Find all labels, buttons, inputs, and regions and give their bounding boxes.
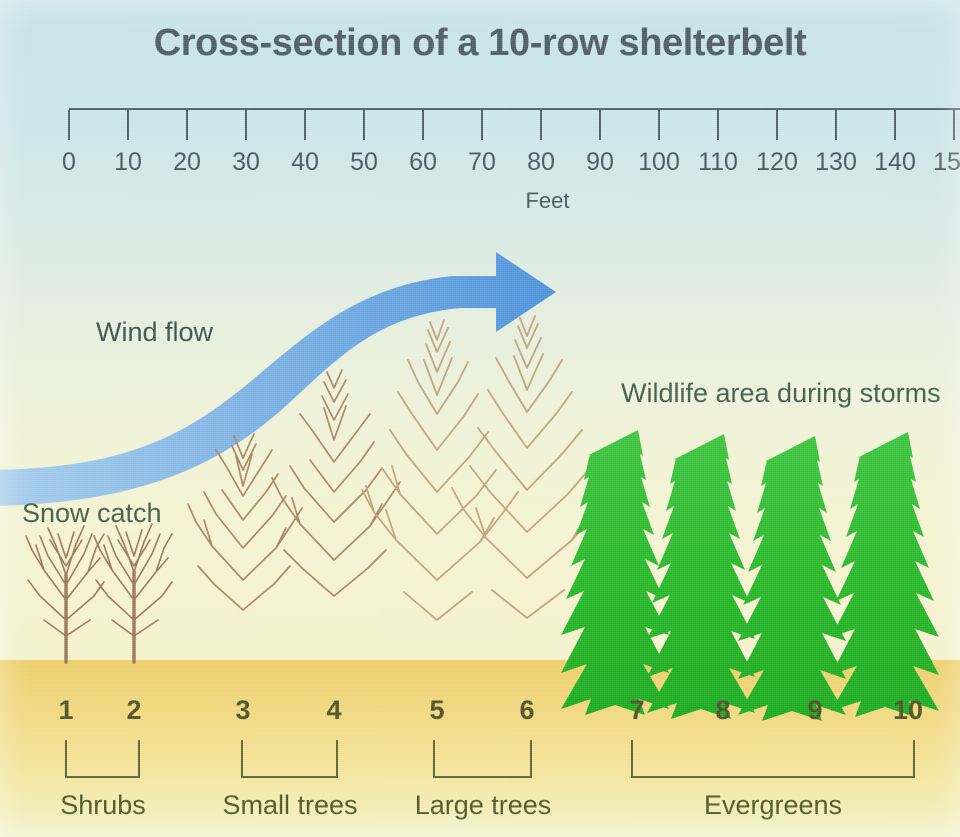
row-number-4: 4: [326, 695, 341, 726]
row-number-9: 9: [807, 695, 822, 726]
bracket-small-trees: [241, 740, 338, 778]
group-label-shrubs: Shrubs: [60, 790, 146, 821]
row-number-3: 3: [235, 695, 250, 726]
shelterbelt-diagram: Cross-section of a 10-row shelterbelt 01…: [0, 0, 960, 837]
wildlife-area-label: Wildlife area during storms: [621, 378, 941, 409]
bracket-large-trees: [433, 740, 532, 778]
row-number-2: 2: [126, 695, 141, 726]
row-number-10: 10: [893, 695, 923, 726]
row-number-8: 8: [715, 695, 730, 726]
group-label-evergreens: Evergreens: [704, 790, 842, 821]
snow-catch-label: Snow catch: [22, 498, 162, 529]
row-number-7: 7: [629, 695, 644, 726]
large-tree-row-5: [362, 320, 518, 662]
shrub-row-1: [26, 526, 104, 662]
group-label-large-trees: Large trees: [415, 790, 552, 821]
bracket-shrubs: [65, 740, 140, 778]
small-tree-row-3: [188, 434, 302, 662]
evergreen-row-10: [831, 432, 939, 717]
row-number-5: 5: [429, 695, 444, 726]
bracket-evergreens: [631, 740, 915, 778]
group-label-small-trees: Small trees: [222, 790, 357, 821]
wind-flow-arrow: [0, 252, 556, 506]
wind-flow-label: Wind flow: [96, 317, 213, 348]
row-number-1: 1: [58, 695, 73, 726]
shrub-row-2: [94, 524, 172, 662]
row-number-6: 6: [519, 695, 534, 726]
small-tree-row-4: [272, 370, 400, 662]
evergreen-row-9: [738, 436, 846, 721]
evergreen-row-8: [647, 434, 755, 719]
